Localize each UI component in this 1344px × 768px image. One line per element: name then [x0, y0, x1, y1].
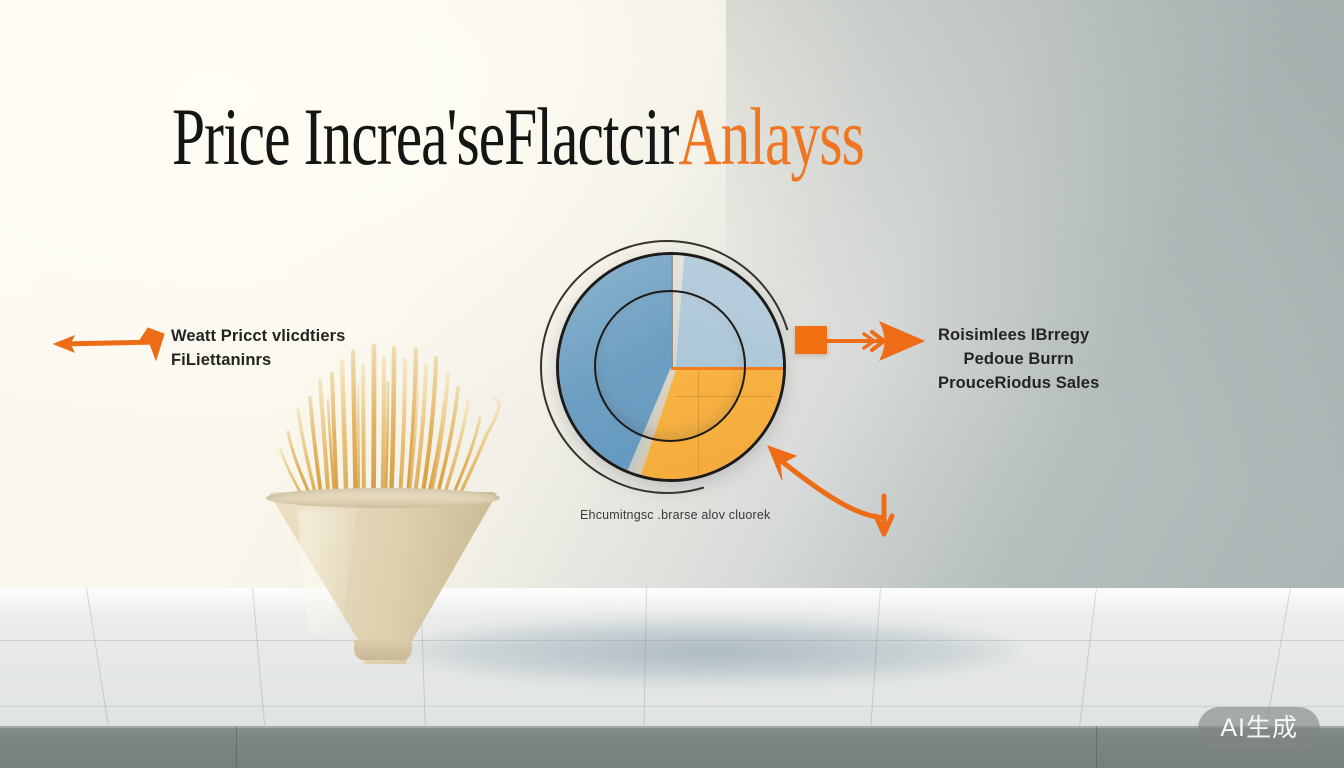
label-left-line-1: Weatt Pricct vlicdtiers	[171, 325, 345, 349]
ai-watermark-badge: AI生成	[1198, 707, 1320, 750]
floor-seam-horizontal	[0, 640, 1344, 641]
floor-front-edge	[0, 726, 1344, 768]
label-left-line-2: FiLiettaninrs	[171, 349, 345, 373]
vase-foot	[354, 640, 412, 660]
floor-edge-highlight	[0, 726, 1344, 728]
title-accent-text: Anlayss	[679, 91, 864, 182]
title-main-text: Price Increa'seFlactcir	[172, 91, 679, 182]
floor-highlight	[0, 588, 1344, 614]
page-title: Price Increa'seFlactcirAnlayss	[172, 96, 864, 178]
chart-inner-ring	[594, 290, 746, 442]
floor-edge-seam	[236, 726, 237, 768]
floor	[0, 588, 1344, 768]
pie-chart	[538, 238, 796, 496]
image-canvas: Price Increa'seFlactcirAnlayss	[0, 0, 1344, 768]
wheat-vase-group	[258, 340, 508, 670]
wall-shadow-right	[726, 0, 1344, 507]
annotation-label-right: Roisimlees IBrregy Pedoue Burrn ProuceRi…	[938, 324, 1099, 396]
floor-seam-horizontal	[0, 706, 1344, 707]
annotation-label-left: Weatt Pricct vlicdtiers FiLiettaninrs	[171, 325, 345, 373]
label-right-line-3: ProuceRiodus Sales	[938, 372, 1099, 396]
vase-rim	[266, 488, 500, 508]
label-right-line-1: Roisimlees IBrregy	[938, 324, 1099, 348]
chart-caption: Ehcumitngsc .brarse alov cluorek	[580, 508, 771, 522]
floor-edge-seam	[1096, 726, 1097, 768]
orange-square-marker	[795, 326, 827, 354]
label-right-line-2: Pedoue Burrn	[938, 348, 1099, 372]
